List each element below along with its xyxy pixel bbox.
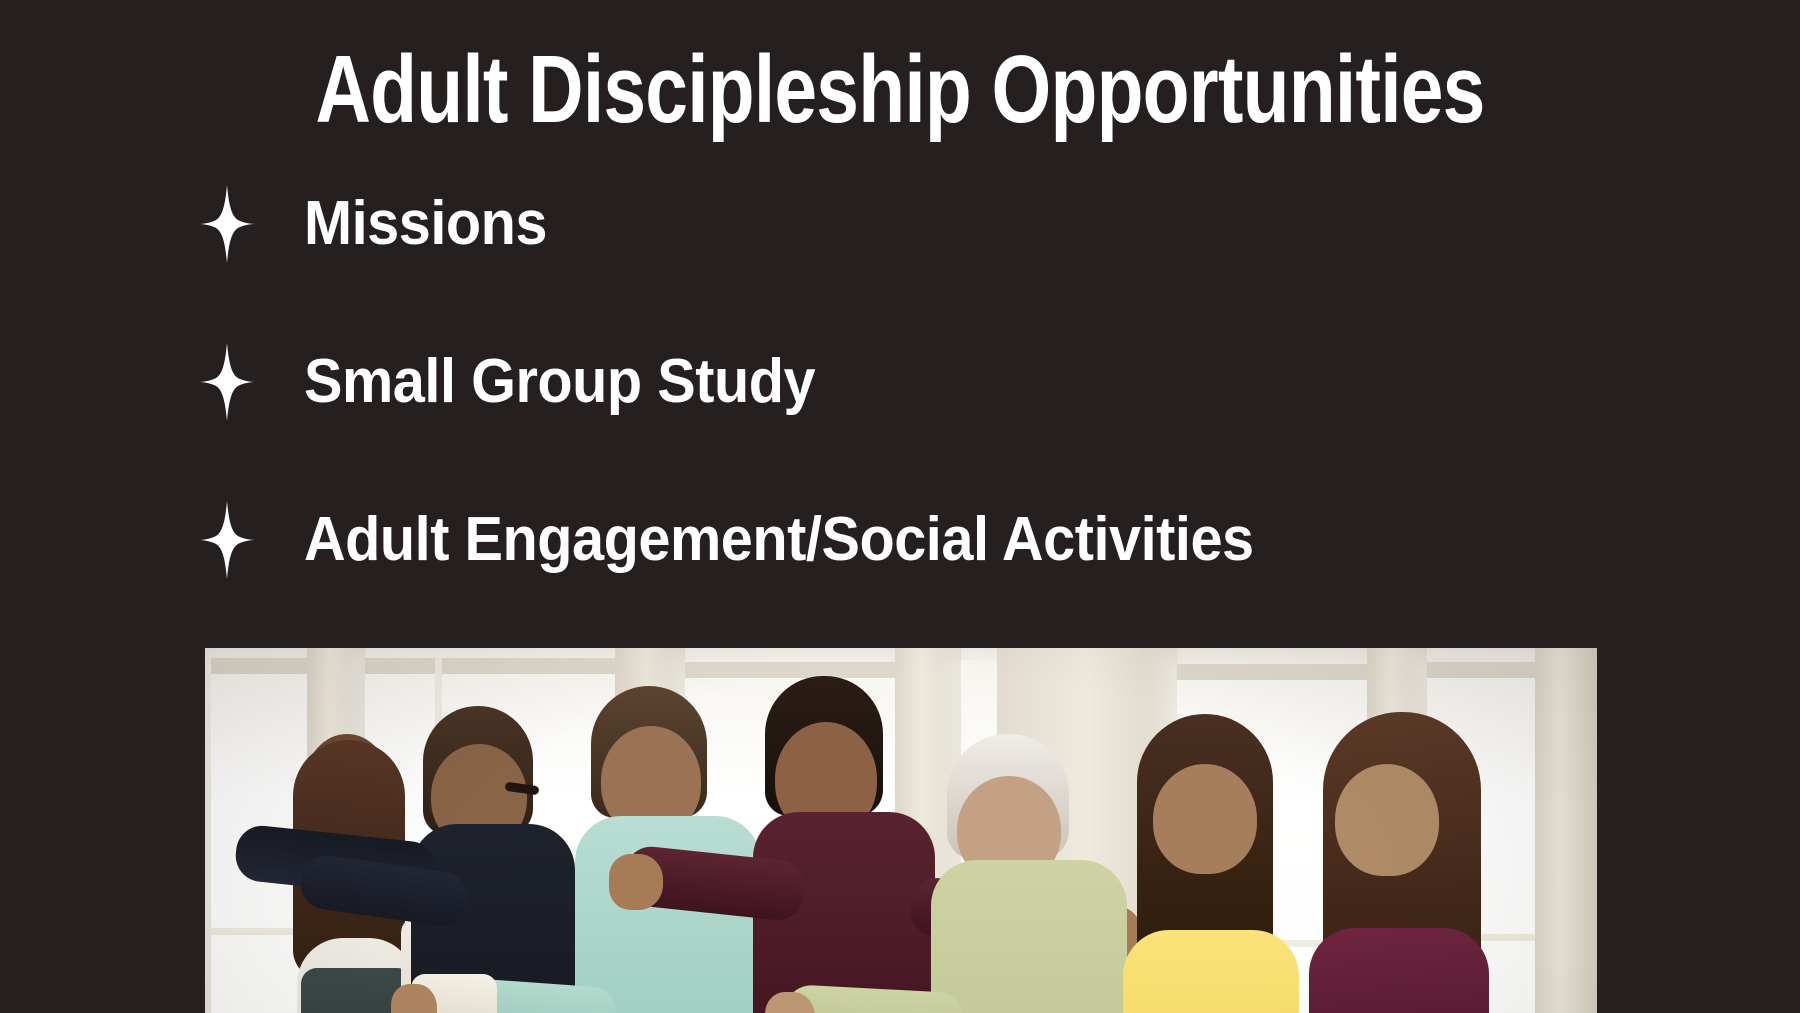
sparkle-icon [196, 343, 258, 421]
list-item: Small Group Study [196, 346, 1696, 418]
group-photo [205, 648, 1597, 1013]
wall-pillar [1535, 648, 1597, 1013]
page-title: Adult Discipleship Opportunities [180, 42, 1620, 138]
slide-canvas: Adult Discipleship Opportunities Mission… [0, 0, 1800, 1013]
list-item-label: Missions [304, 193, 547, 255]
list-item: Missions [196, 188, 1696, 260]
group-photo-image [205, 648, 1597, 1013]
list-item-label: Small Group Study [304, 351, 815, 413]
bullet-list: Missions Small Group Study Adult Engagem… [196, 188, 1696, 576]
list-item-label: Adult Engagement/Social Activities [304, 509, 1254, 571]
list-item: Adult Engagement/Social Activities [196, 504, 1696, 576]
sparkle-icon [196, 185, 258, 263]
sparkle-icon [196, 501, 258, 579]
